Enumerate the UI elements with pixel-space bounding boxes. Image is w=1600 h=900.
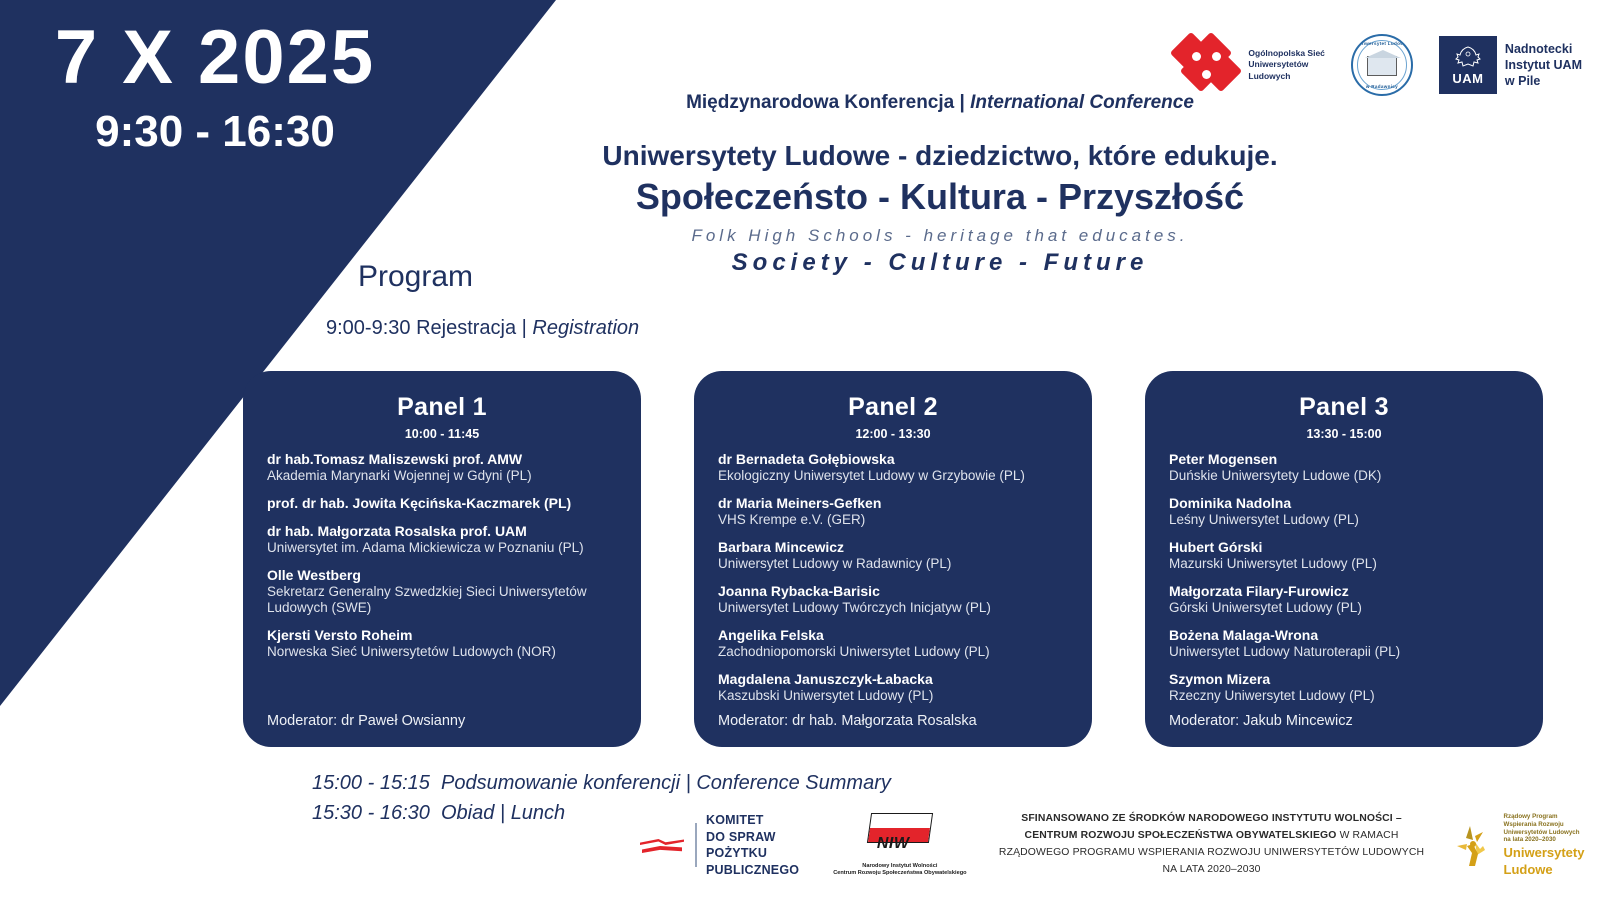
niw-subtitle: Narodowy Instytut Wolności Centrum Rozwo… bbox=[833, 863, 966, 878]
title-pl-line2: Społeczeństo - Kultura - Przyszłość bbox=[540, 176, 1340, 218]
registration-pl: 9:00-9:30 Rejestracja | bbox=[326, 317, 532, 339]
speaker-entry: Szymon Mizera Rzeczny Uniwersytet Ludowy… bbox=[1169, 671, 1519, 704]
speaker-name: Peter Mogensen bbox=[1169, 451, 1519, 468]
kdspp-line-4: PUBLICZNEGO bbox=[706, 862, 799, 879]
speaker-org: Mazurski Uniwersytet Ludowy (PL) bbox=[1169, 556, 1519, 572]
uam-logo: UAM Nadnotecki Instytut UAM w Pile bbox=[1439, 36, 1582, 94]
speaker-org: Sekretarz Generalny Szwedzkiej Sieci Uni… bbox=[267, 584, 617, 616]
niw-flag-icon: NIW bbox=[863, 813, 937, 861]
speaker-name: dr hab. Małgorzata Rosalska prof. UAM bbox=[267, 523, 617, 540]
speaker-entry: dr hab.Tomasz Maliszewski prof. AMW Akad… bbox=[267, 451, 617, 484]
date-block: 7 X 2025 9:30 - 16:30 bbox=[0, 18, 430, 156]
title-en-line1: Folk High Schools - heritage that educat… bbox=[540, 226, 1340, 246]
schedule-pl: Obiad | bbox=[441, 802, 511, 824]
speaker-entry: Dominika Nadolna Leśny Uniwersytet Ludow… bbox=[1169, 495, 1519, 528]
funding-footer: KOMITET DO SPRAW POŻYTKU PUBLICZNEGO NIW… bbox=[640, 800, 1590, 890]
ul-name-line-1: Uniwersytety bbox=[1504, 846, 1585, 860]
schedule-time: 15:00 - 15:15 bbox=[312, 772, 430, 794]
ul-figure-icon bbox=[1453, 822, 1497, 868]
kdspp-line-1: KOMITET bbox=[706, 812, 799, 829]
speaker-entry: prof. dr hab. Jowita Kęcińska-Kaczmarek … bbox=[267, 495, 617, 512]
eagle-icon bbox=[1453, 45, 1483, 71]
speaker-org: Uniwersytet Ludowy Twórczych Inicjatyw (… bbox=[718, 600, 1068, 616]
speaker-name: Hubert Górski bbox=[1169, 539, 1519, 556]
speaker-name: Olle Westberg bbox=[267, 567, 617, 584]
panel-card-1[interactable]: Panel 1 10:00 - 11:45 dr hab.Tomasz Mali… bbox=[243, 371, 641, 747]
schedule-row: 15:00 - 15:15 Podsumowanie konferencji |… bbox=[312, 768, 891, 798]
event-time-range: 9:30 - 16:30 bbox=[0, 108, 430, 156]
panel-time: 12:00 - 13:30 bbox=[718, 427, 1068, 441]
speaker-org: VHS Krempe e.V. (GER) bbox=[718, 512, 1068, 528]
speaker-name: Kjersti Versto Roheim bbox=[267, 627, 617, 644]
osul-logo-text: Ogólnopolska Sieć Uniwersytetów Ludowych bbox=[1248, 48, 1325, 82]
seal-top-text: Uniwersytet Ludowy bbox=[1353, 41, 1411, 46]
panel-title: Panel 3 bbox=[1169, 393, 1519, 422]
kicker-en: International Conference bbox=[970, 92, 1194, 113]
seal-bottom-text: w Radawnicy bbox=[1353, 84, 1411, 89]
ul-program-years: na lata 2020–2030 bbox=[1504, 836, 1585, 844]
speaker-name: dr Bernadeta Gołębiowska bbox=[718, 451, 1068, 468]
speaker-org: Ekologiczny Uniwersytet Ludowy w Grzybow… bbox=[718, 468, 1068, 484]
panel-moderator: Moderator: Jakub Mincewicz bbox=[1169, 713, 1353, 729]
niw-sub-line-2: Centrum Rozwoju Społeczeństwa Obywatelsk… bbox=[833, 870, 966, 877]
ul-program-line-2: Wspierania Rozwoju bbox=[1504, 821, 1585, 829]
event-date: 7 X 2025 bbox=[0, 18, 430, 98]
speaker-name: prof. dr hab. Jowita Kęcińska-Kaczmarek … bbox=[267, 495, 617, 512]
speaker-entry: Joanna Rybacka-Barisic Uniwersytet Ludow… bbox=[718, 583, 1068, 616]
speaker-org: Akademia Marynarki Wojennej w Gdyni (PL) bbox=[267, 468, 617, 484]
speaker-entry: Magdalena Januszczyk-Łabacka Kaszubski U… bbox=[718, 671, 1068, 704]
speaker-entry: dr Maria Meiners-Gefken VHS Krempe e.V. … bbox=[718, 495, 1068, 528]
ul-name-line-2: Ludowe bbox=[1504, 863, 1585, 877]
speaker-org: Uniwersytet Ludowy Naturoterapii (PL) bbox=[1169, 644, 1519, 660]
niw-logo: NIW Narodowy Instytut Wolności Centrum R… bbox=[833, 813, 966, 878]
speaker-name: Barbara Mincewicz bbox=[718, 539, 1068, 556]
interlocking-diamonds-icon bbox=[1174, 34, 1240, 96]
osul-line-2: Uniwersytetów bbox=[1248, 59, 1325, 70]
speaker-name: Małgorzata Filary-Furowicz bbox=[1169, 583, 1519, 600]
osul-logo: Ogólnopolska Sieć Uniwersytetów Ludowych bbox=[1174, 34, 1325, 96]
panel-card-3[interactable]: Panel 3 13:30 - 15:00 Peter Mogensen Duń… bbox=[1145, 371, 1543, 747]
ul-logo-text: Rządowy Program Wspierania Rozwoju Uniwe… bbox=[1504, 813, 1585, 877]
schedule-en: Conference Summary bbox=[696, 772, 891, 794]
speaker-entry: Olle Westberg Sekretarz Generalny Szwedz… bbox=[267, 567, 617, 616]
title-en-line2: Society - Culture - Future bbox=[540, 249, 1340, 277]
speaker-entry: dr Bernadeta Gołębiowska Ekologiczny Uni… bbox=[718, 451, 1068, 484]
program-heading: Program bbox=[358, 260, 473, 294]
schedule-pl: Podsumowanie konferencji | bbox=[441, 772, 696, 794]
panel-title: Panel 2 bbox=[718, 393, 1068, 422]
speaker-org: Norweska Sieć Uniwersytetów Ludowych (NO… bbox=[267, 644, 617, 660]
osul-line-1: Ogólnopolska Sieć bbox=[1248, 48, 1325, 59]
speaker-name: Dominika Nadolna bbox=[1169, 495, 1519, 512]
speaker-name: Joanna Rybacka-Barisic bbox=[718, 583, 1068, 600]
title-pl-line1: Uniwersytety Ludowe - dziedzictwo, które… bbox=[540, 140, 1340, 172]
university-seal-icon: Uniwersytet Ludowy w Radawnicy bbox=[1351, 34, 1413, 96]
panel-time: 13:30 - 15:00 bbox=[1169, 427, 1519, 441]
partner-logo-row: Ogólnopolska Sieć Uniwersytetów Ludowych… bbox=[1174, 20, 1582, 110]
speaker-entry: Barbara Mincewicz Uniwersytet Ludowy w R… bbox=[718, 539, 1068, 572]
kicker-pl: Międzynarodowa Konferencja | bbox=[686, 92, 970, 113]
uam-line-2: Instytut UAM bbox=[1505, 57, 1582, 73]
speaker-org: Górski Uniwersytet Ludowy (PL) bbox=[1169, 600, 1519, 616]
speaker-name: Bożena Malaga-Wrona bbox=[1169, 627, 1519, 644]
panel-card-2[interactable]: Panel 2 12:00 - 13:30 dr Bernadeta Gołęb… bbox=[694, 371, 1092, 747]
logo-divider bbox=[695, 823, 697, 867]
kdspp-line-3: POŻYTKU bbox=[706, 845, 799, 862]
osul-line-3: Ludowych bbox=[1248, 71, 1325, 82]
speaker-name: Angelika Felska bbox=[718, 627, 1068, 644]
speaker-name: dr hab.Tomasz Maliszewski prof. AMW bbox=[267, 451, 617, 468]
schedule-time: 15:30 - 16:30 bbox=[312, 802, 430, 824]
niw-wordmark: NIW bbox=[877, 835, 910, 853]
panel-moderator: Moderator: dr hab. Małgorzata Rosalska bbox=[718, 713, 977, 729]
panel-container: Panel 1 10:00 - 11:45 dr hab.Tomasz Mali… bbox=[243, 371, 1543, 747]
panel-time: 10:00 - 11:45 bbox=[267, 427, 617, 441]
kdspp-logo: KOMITET DO SPRAW POŻYTKU PUBLICZNEGO bbox=[640, 812, 799, 878]
ul-program-line-3: Uniwersytetów Ludowych bbox=[1504, 829, 1585, 837]
speaker-entry: dr hab. Małgorzata Rosalska prof. UAM Un… bbox=[267, 523, 617, 556]
registration-en: Registration bbox=[532, 317, 639, 339]
uam-logo-text: Nadnotecki Instytut UAM w Pile bbox=[1505, 41, 1582, 90]
speaker-org: Rzeczny Uniwersytet Ludowy (PL) bbox=[1169, 688, 1519, 704]
speaker-name: Magdalena Januszczyk-Łabacka bbox=[718, 671, 1068, 688]
registration-line: 9:00-9:30 Rejestracja | Registration bbox=[326, 317, 639, 340]
speaker-entry: Peter Mogensen Duńskie Uniwersytety Ludo… bbox=[1169, 451, 1519, 484]
kdspp-logo-text: KOMITET DO SPRAW POŻYTKU PUBLICZNEGO bbox=[706, 812, 799, 878]
speaker-name: dr Maria Meiners-Gefken bbox=[718, 495, 1068, 512]
uam-wordmark: UAM bbox=[1452, 72, 1483, 85]
uam-crest-icon: UAM bbox=[1439, 36, 1497, 94]
speaker-org: Uniwersytet im. Adama Mickiewicza w Pozn… bbox=[267, 540, 617, 556]
funding-statement: SFINANSOWANO ZE ŚRODKÓW NARODOWEGO INSTY… bbox=[997, 811, 1427, 878]
speaker-name: Szymon Mizera bbox=[1169, 671, 1519, 688]
uniwersytety-ludowe-logo: Rządowy Program Wspierania Rozwoju Uniwe… bbox=[1453, 813, 1585, 877]
speaker-org: Zachodniopomorski Uniwersytet Ludowy (PL… bbox=[718, 644, 1068, 660]
niw-sub-line-1: Narodowy Instytut Wolności bbox=[833, 863, 966, 870]
speaker-entry: Bożena Malaga-Wrona Uniwersytet Ludowy N… bbox=[1169, 627, 1519, 660]
radawnica-seal-logo: Uniwersytet Ludowy w Radawnicy bbox=[1351, 34, 1413, 96]
polish-flag-swoosh-icon bbox=[640, 831, 686, 859]
kdspp-line-2: DO SPRAW bbox=[706, 829, 799, 846]
panel-title: Panel 1 bbox=[267, 393, 617, 422]
ul-program-line-1: Rządowy Program bbox=[1504, 813, 1585, 821]
speaker-org: Duńskie Uniwersytety Ludowe (DK) bbox=[1169, 468, 1519, 484]
speaker-entry: Małgorzata Filary-Furowicz Górski Uniwer… bbox=[1169, 583, 1519, 616]
schedule-en: Lunch bbox=[511, 802, 566, 824]
speaker-org: Kaszubski Uniwersytet Ludowy (PL) bbox=[718, 688, 1068, 704]
speaker-entry: Hubert Górski Mazurski Uniwersytet Ludow… bbox=[1169, 539, 1519, 572]
uam-line-3: w Pile bbox=[1505, 73, 1582, 89]
speaker-org: Uniwersytet Ludowy w Radawnicy (PL) bbox=[718, 556, 1068, 572]
uam-line-1: Nadnotecki bbox=[1505, 41, 1582, 57]
speaker-org: Leśny Uniwersytet Ludowy (PL) bbox=[1169, 512, 1519, 528]
panel-moderator: Moderator: dr Paweł Owsianny bbox=[267, 713, 465, 729]
speaker-entry: Angelika Felska Zachodniopomorski Uniwer… bbox=[718, 627, 1068, 660]
speaker-entry: Kjersti Versto Roheim Norweska Sieć Uniw… bbox=[267, 627, 617, 660]
